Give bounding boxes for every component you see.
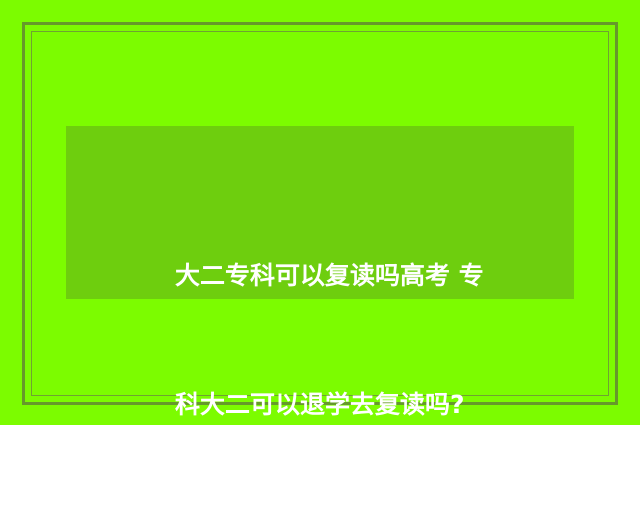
headline-text-block: 大二专科可以复读吗高考 专 科大二可以退学去复读吗? — [175, 168, 505, 512]
headline-line-2: 科大二可以退学去复读吗? — [175, 383, 505, 426]
headline-line-1: 大二专科可以复读吗高考 专 — [175, 254, 505, 297]
banner-canvas: 大二专科可以复读吗高考 专 科大二可以退学去复读吗? — [0, 0, 640, 425]
